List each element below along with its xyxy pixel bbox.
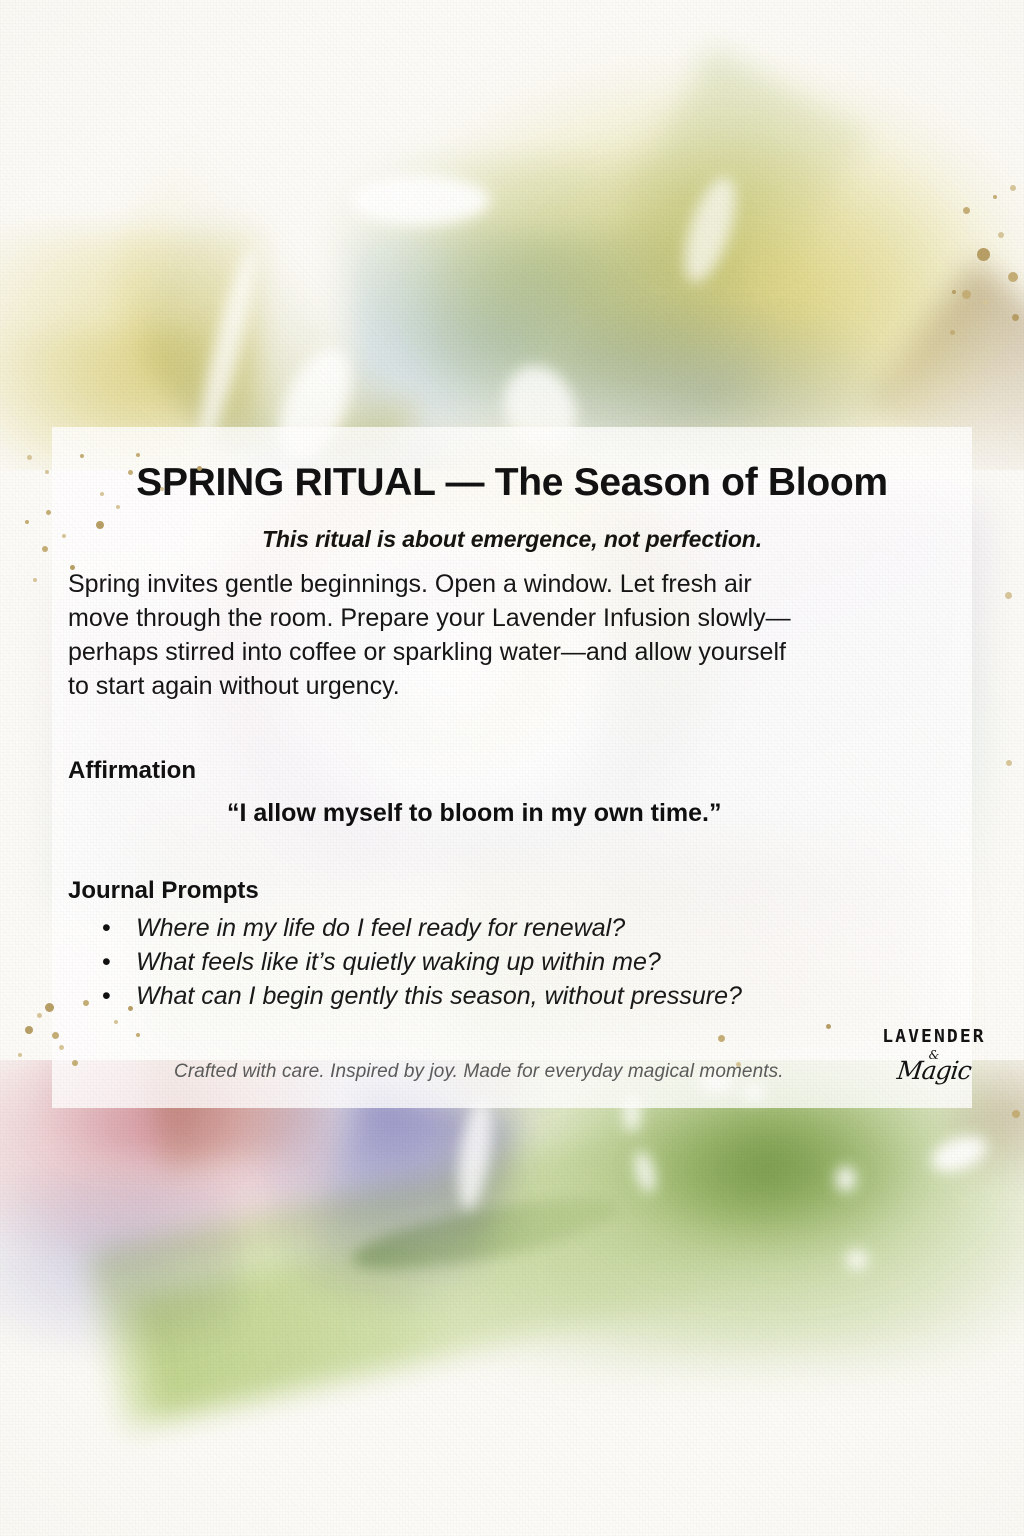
top-watercolor-art	[0, 0, 1024, 470]
footer-note: Crafted with care. Inspired by joy. Made…	[174, 1061, 784, 1083]
body-line-1: Spring invites gentle beginnings. Open a…	[68, 567, 958, 601]
journal-prompts-heading: Journal Prompts	[68, 877, 259, 905]
affirmation-heading: Affirmation	[68, 757, 196, 785]
journal-prompts-list: • Where in my life do I feel ready for r…	[68, 911, 958, 1013]
brand-logo: LAVENDER & Magic	[864, 1027, 1004, 1099]
affirmation-quote: “I allow myself to bloom in my own time.…	[227, 799, 927, 828]
list-item: • What feels like it’s quietly waking up…	[68, 945, 958, 979]
prompt-text: Where in my life do I feel ready for ren…	[136, 914, 625, 942]
body-line-4: to start again without urgency.	[68, 669, 958, 703]
body-line-2: move through the room. Prepare your Lave…	[68, 601, 958, 635]
content-layer: SPRING RITUAL — The Season of Bloom This…	[52, 427, 972, 1108]
list-item: • Where in my life do I feel ready for r…	[68, 911, 958, 945]
brand-wordmark: LAVENDER	[864, 1027, 1004, 1047]
page-subtitle: This ritual is about emergence, not perf…	[52, 526, 972, 553]
body-paragraph: Spring invites gentle beginnings. Open a…	[68, 567, 958, 703]
prompt-text: What feels like it’s quietly waking up w…	[136, 948, 661, 976]
bullet-icon: •	[102, 945, 111, 979]
ritual-card: SPRING RITUAL — The Season of Bloom This…	[0, 0, 1024, 1536]
prompt-text: What can I begin gently this season, wit…	[136, 982, 742, 1010]
bottom-watercolor-art	[0, 1060, 1024, 1536]
bullet-icon: •	[102, 911, 111, 945]
brand-script: Magic	[863, 1059, 1006, 1083]
list-item: • What can I begin gently this season, w…	[68, 979, 958, 1013]
page-title: SPRING RITUAL — The Season of Bloom	[52, 461, 972, 505]
bullet-icon: •	[102, 979, 111, 1013]
body-line-3: perhaps stirred into coffee or sparkling…	[68, 635, 958, 669]
